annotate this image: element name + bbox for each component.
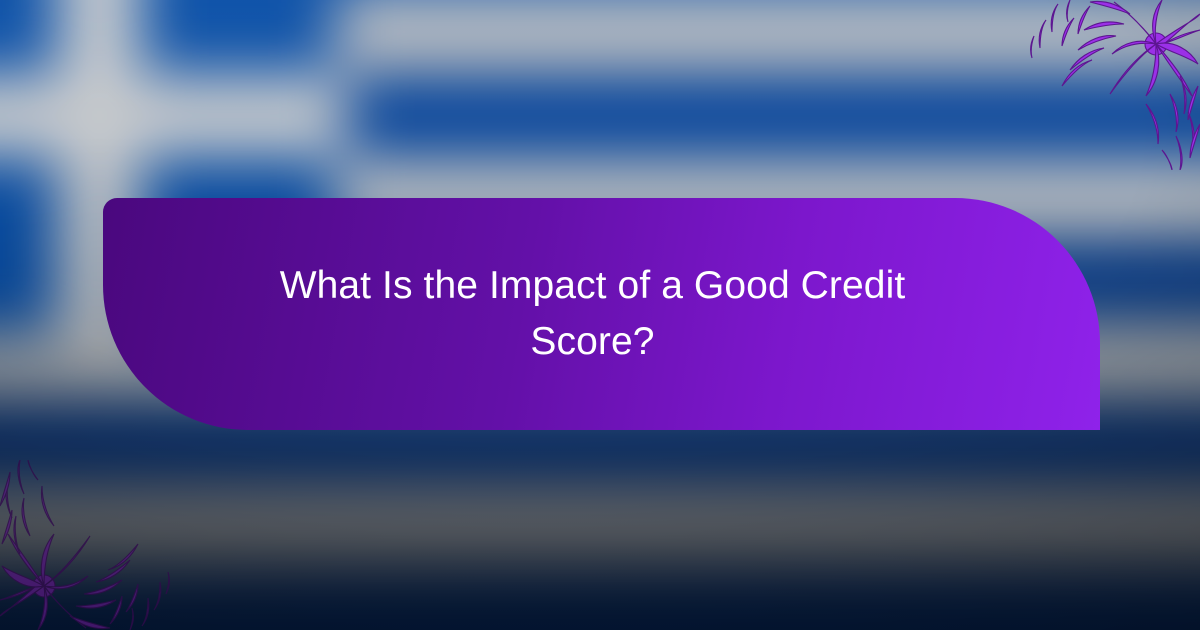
banner-card: What Is the Impact of a Good Credit Scor… — [0, 0, 1200, 630]
page-title: What Is the Impact of a Good Credit Scor… — [253, 258, 932, 370]
title-banner: What Is the Impact of a Good Credit Scor… — [103, 198, 1100, 430]
